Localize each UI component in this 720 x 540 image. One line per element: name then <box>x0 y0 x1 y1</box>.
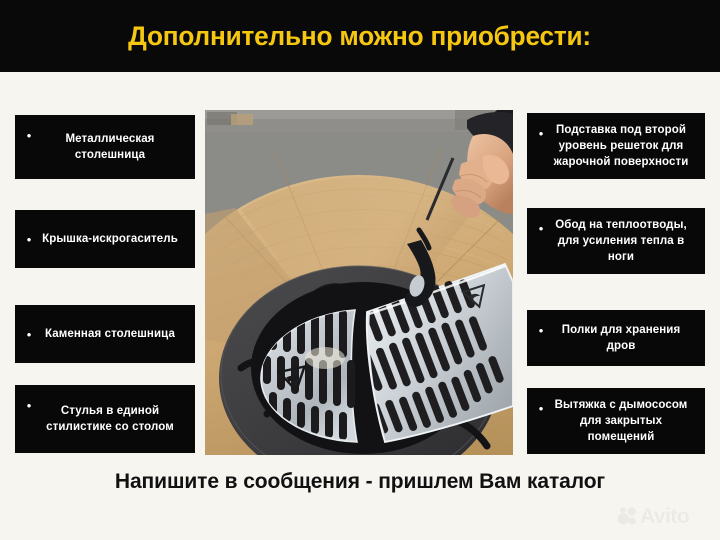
feature-label: Подставка под второй уровень решеток для… <box>549 122 697 171</box>
product-photo-illustration <box>205 110 513 455</box>
feature-label: Полки для хранения дров <box>549 322 697 355</box>
feature-box-right-1[interactable]: • Подставка под второй уровень решеток д… <box>527 113 705 179</box>
footer-cta: Напишите в сообщения - пришлем Вам катал… <box>0 470 720 494</box>
page-title: Дополнительно можно приобрести: <box>129 21 592 52</box>
bullet-icon: • <box>533 402 549 415</box>
feature-box-left-4[interactable]: • Стулья в единой стилистике со столом <box>15 385 195 453</box>
bullet-icon: • <box>533 127 549 140</box>
feature-label: Каменная столешница <box>37 326 187 342</box>
feature-label: Стулья в единой стилистике со столом <box>37 403 187 436</box>
bullet-icon: • <box>21 399 37 412</box>
feature-box-right-3[interactable]: • Полки для хранения дров <box>527 310 705 366</box>
bullet-icon: • <box>21 129 37 142</box>
feature-label: Металлическая столешница <box>37 131 187 164</box>
avito-watermark: Avito <box>617 505 689 527</box>
feature-box-right-2[interactable]: • Обод на теплоотводы, для усиления тепл… <box>527 208 705 274</box>
feature-label: Крышка-искрогаситель <box>37 231 187 247</box>
header-bar: Дополнительно можно приобрести: <box>0 0 720 72</box>
avito-watermark-label: Avito <box>640 506 689 527</box>
bullet-icon: • <box>21 328 37 341</box>
feature-box-left-3[interactable]: • Каменная столешница <box>15 305 195 363</box>
feature-box-right-4[interactable]: • Вытяжка с дымососом для закрытых помещ… <box>527 388 705 454</box>
feature-box-left-1[interactable]: • Металлическая столешница <box>15 115 195 179</box>
product-photo <box>205 110 513 455</box>
feature-label: Вытяжка с дымососом для закрытых помещен… <box>549 397 697 446</box>
avito-dots-icon <box>617 505 639 527</box>
bullet-icon: • <box>533 222 549 235</box>
poster-root: Дополнительно можно приобрести: • Металл… <box>0 0 720 540</box>
feature-label: Обод на теплоотводы, для усиления тепла … <box>549 217 697 266</box>
bullet-icon: • <box>533 324 549 337</box>
bullet-icon: • <box>21 233 37 246</box>
feature-box-left-2[interactable]: • Крышка-искрогаситель <box>15 210 195 268</box>
